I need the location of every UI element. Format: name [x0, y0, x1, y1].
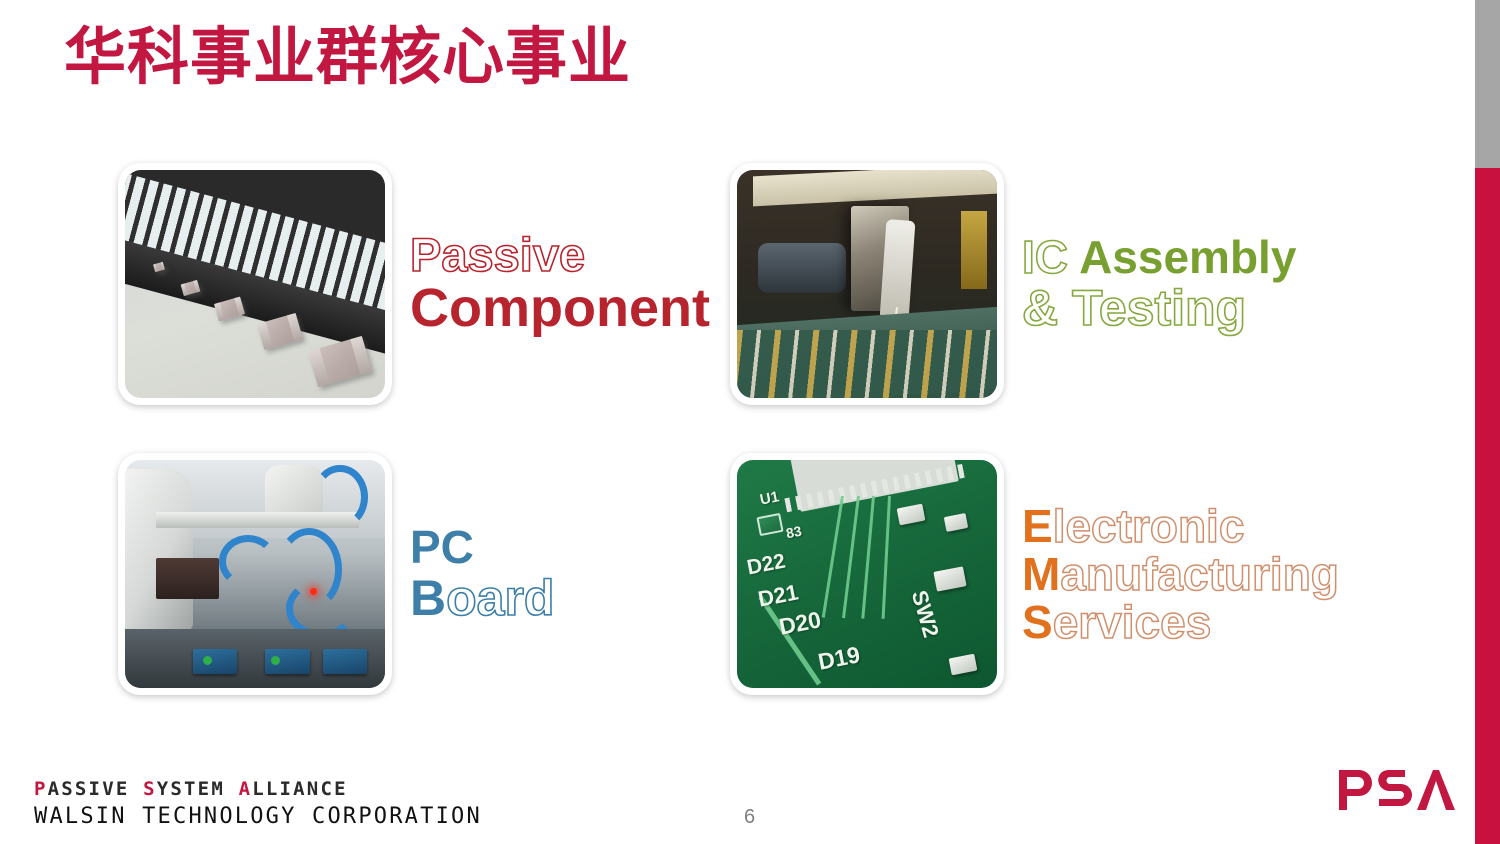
smd-component [897, 503, 926, 525]
label-ems: Electronic Manufacturing Services [1022, 502, 1339, 646]
ruler-graphic [125, 170, 385, 335]
photo-frame-passive-component [118, 163, 392, 405]
label-pc-board: PC Board [410, 524, 554, 624]
pcb-in-fixture [323, 649, 367, 674]
footer-brand: PASSIVE SYSTEM ALLIANCE WALSIN TECHNOLOG… [34, 778, 482, 829]
photo-frame-ic-assembly [730, 163, 1004, 405]
silkscreen-label-d19: D19 [815, 641, 862, 676]
silkscreen-label-d21: D21 [756, 579, 801, 612]
silkscreen-label-d22: D22 [745, 550, 787, 581]
psa-logo-letter-s [1378, 770, 1412, 806]
pneumatic-tube [219, 535, 277, 588]
silkscreen-label-83: 83 [785, 522, 803, 541]
label-initial-s: S [1022, 596, 1053, 648]
label-passive-component: Passive Component [410, 231, 710, 336]
smd-component [933, 567, 966, 592]
edge-accent-bar-gray [1475, 0, 1500, 168]
tagline-initial-s: S [143, 778, 157, 800]
tagline-rest-lliance: LLIANCE [252, 778, 347, 800]
robotic-pcb-assembly-line-photo [125, 460, 385, 688]
quadrant-ems: U1 83 D22 D21 D20 D19 SW2 Electronic Man… [730, 453, 1339, 695]
mlcc-chip-capacitors-photo [125, 170, 385, 398]
label-word-assembly: Assembly [1079, 231, 1296, 283]
tagline-rest-assive: ASSIVE [48, 778, 130, 800]
page-number: 6 [744, 806, 755, 829]
silkscreen-label-d20: D20 [776, 607, 823, 642]
smd-component [949, 654, 978, 676]
label-line-and-testing: & Testing [1022, 283, 1296, 334]
label-line-component: Component [410, 281, 710, 336]
green-indicator-button [271, 656, 280, 665]
photo-frame-pc-board [118, 453, 392, 695]
machine-indicator-glow [961, 211, 987, 289]
label-word-anufacturing: anufacturing [1060, 548, 1339, 600]
label-word-lectronic: lectronic [1053, 500, 1245, 552]
label-line-pc: PC [410, 524, 554, 571]
microscope-lens [758, 243, 846, 293]
label-line-passive: Passive [410, 231, 710, 279]
green-pcb-closeup-photo: U1 83 D22 D21 D20 D19 SW2 [737, 460, 997, 688]
label-ic-assembly: IC Assembly & Testing [1022, 234, 1296, 334]
pcb-trace [822, 496, 844, 618]
smd-component [944, 513, 968, 532]
pcb-trace [861, 496, 875, 619]
component-bin [156, 558, 218, 599]
bonder-arm [879, 219, 915, 321]
silkscreen-label-sw2: SW2 [906, 588, 944, 641]
robot-arm-left [125, 469, 193, 633]
pcb-in-fixture [193, 649, 237, 674]
label-initial-m: M [1022, 548, 1060, 600]
silkscreen-label-u1: U1 [759, 488, 781, 508]
pcb-trace [842, 496, 860, 619]
footer-tagline: PASSIVE SYSTEM ALLIANCE [34, 778, 482, 800]
chip-capacitor [308, 336, 372, 387]
pneumatic-tube [312, 465, 368, 529]
footer-company-name: WALSIN TECHNOLOGY CORPORATION [34, 804, 482, 829]
leadframe-gold-leads [737, 330, 997, 398]
tagline-initial-a: A [239, 778, 253, 800]
quadrant-ic-assembly: IC Assembly & Testing [730, 163, 1296, 405]
quadrant-pc-board: PC Board [118, 453, 554, 695]
tagline-space-1 [129, 778, 143, 800]
label-word-b: B [410, 570, 446, 626]
label-word-oard: oard [446, 570, 554, 626]
label-word-ervices: ervices [1053, 596, 1212, 648]
pcb-trace [881, 496, 890, 619]
wire-bonder-leadframe-photo [737, 170, 997, 398]
machine-top-bar [753, 170, 997, 206]
tagline-space-2 [225, 778, 239, 800]
slide-title: 华科事业群核心事业 [64, 24, 631, 92]
tagline-initial-p: P [34, 778, 48, 800]
edge-accent-bar-crimson [1475, 168, 1500, 844]
psa-logo-letter-a-counter [1429, 800, 1443, 804]
laser-indicator [310, 588, 317, 595]
tagline-rest-ystem: YSTEM [157, 778, 225, 800]
label-initial-e: E [1022, 500, 1053, 552]
pcb-pad-outline [756, 513, 783, 536]
label-word-ic: IC [1022, 231, 1079, 283]
photo-frame-ems: U1 83 D22 D21 D20 D19 SW2 [730, 453, 1004, 695]
quadrant-passive-component: Passive Component [118, 163, 710, 405]
psa-logo-letter-p [1339, 770, 1372, 810]
psa-logo [1337, 764, 1455, 816]
